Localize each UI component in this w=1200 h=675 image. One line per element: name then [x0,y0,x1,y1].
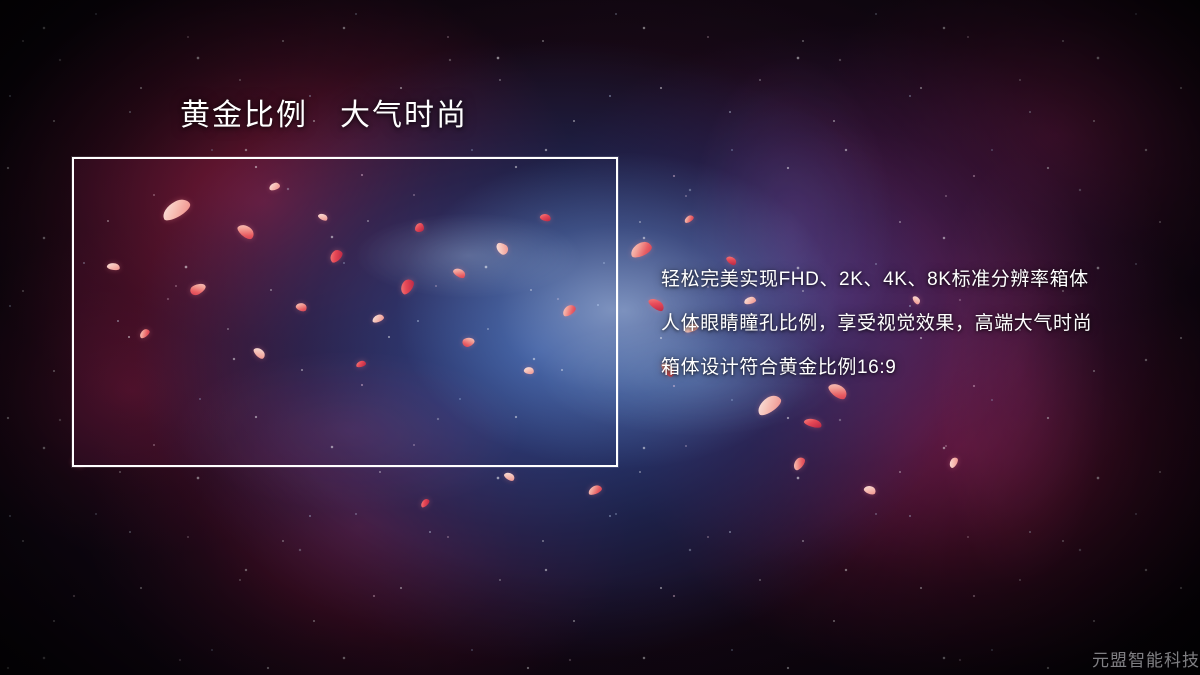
description-line: 轻松完美实现FHD、2K、4K、8K标准分辨率箱体 [661,258,1171,302]
flower-petal [452,266,467,280]
flower-petal [371,313,385,323]
flower-petal [791,455,807,471]
flower-petal [494,240,510,256]
flower-petal [587,484,603,496]
panel-petals-group [74,159,616,465]
flower-petal [947,456,959,469]
flower-petal [235,222,256,242]
flower-petal [461,336,475,349]
flower-petal [355,360,366,368]
flower-petal [539,212,552,222]
company-watermark: 元盟智能科技 [1092,646,1200,671]
flower-petal [327,247,344,264]
flower-petal [252,345,267,360]
flower-petal [683,214,695,224]
flower-petal [560,303,577,318]
golden-ratio-image-frame [72,157,618,467]
flower-petal [523,366,534,375]
flower-petal [189,281,208,298]
description-line: 箱体设计符合黄金比例16:9 [661,346,1171,390]
flower-petal [268,182,280,192]
presentation-slide: 黄金比例 大气时尚 轻松完美实现FHD、2K、4K、8K标准分辨率箱体 人体眼睛… [0,0,1200,675]
flower-petal [317,212,329,222]
flower-petal [415,223,424,232]
flower-petal [754,392,783,418]
flower-petal [419,497,431,508]
flower-petal [398,277,417,296]
flower-petal [863,484,877,496]
flower-petal [106,262,120,272]
flower-petal [295,301,308,313]
flower-petal [628,239,653,259]
feature-description-block: 轻松完美实现FHD、2K、4K、8K标准分辨率箱体 人体眼睛瞳孔比例，享受视觉效… [661,258,1171,390]
flower-petal [159,196,193,223]
flower-petal [503,470,516,482]
flower-petal [138,328,151,340]
flower-petal [803,416,823,429]
page-title: 黄金比例 大气时尚 [180,101,468,131]
description-line: 人体眼睛瞳孔比例，享受视觉效果，高端大气时尚 [661,302,1171,346]
